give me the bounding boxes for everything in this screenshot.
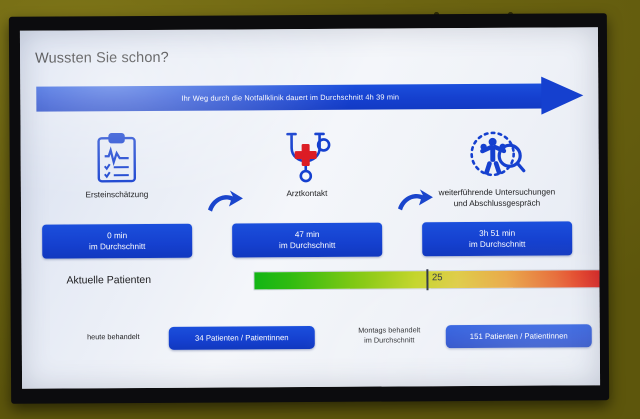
footer-label-montags: Montags behandelt im Durchschnitt <box>342 325 437 346</box>
step-label-line2: und Abschlussgespräch <box>409 197 585 209</box>
current-patients-label: Aktuelle Patienten <box>66 274 151 287</box>
step-column-arztkontakt: Arztkontakt <box>219 128 395 199</box>
step-value-ersteinschaetzung: 0 min im Durchschnitt <box>42 224 192 259</box>
step-value: 0 min <box>107 230 127 241</box>
banner-arrowhead-icon <box>541 76 583 114</box>
step-value-arztkontakt: 47 min im Durchschnitt <box>232 223 382 258</box>
gauge-value: 25 <box>432 272 443 283</box>
banner-text: Ihr Weg durch die Notfallklinik dauert i… <box>36 84 544 112</box>
step-label: Arztkontakt <box>219 187 395 199</box>
slide-canvas: Wussten Sie schon? Ihr Weg durch die Not… <box>20 27 600 389</box>
screen-area: Wussten Sie schon? Ihr Weg durch die Not… <box>20 27 600 389</box>
footer-label-heute: heute behandelt <box>66 332 161 343</box>
footer-label-montags-line1: Montags behandelt <box>342 325 437 336</box>
step-value-sub: im Durchschnitt <box>279 240 335 251</box>
gauge-marker <box>426 269 428 290</box>
footer-value-heute: 34 Patienten / Patientinnen <box>169 326 315 350</box>
step-label: Ersteinschätzung <box>29 189 205 201</box>
footer-value-montags: 151 Patienten / Patientinnen <box>446 324 592 348</box>
step-column-untersuchungen: weiterführende Untersuchungen und Abschl… <box>409 127 585 209</box>
current-patients-gauge: 25 <box>254 270 600 289</box>
pathway-banner: Ihr Weg durch die Notfallklinik dauert i… <box>36 83 583 111</box>
page-title: Wussten Sie schon? <box>35 50 169 67</box>
step-value-sub: im Durchschnitt <box>469 239 525 250</box>
stethoscope-red-cross-icon <box>219 128 395 185</box>
clipboard-vitals-icon <box>29 130 205 187</box>
step-value: 3h 51 min <box>479 228 515 239</box>
footer-label-montags-line2: im Durchschnitt <box>342 335 437 346</box>
step-value: 47 min <box>295 229 320 240</box>
step-value-untersuchungen: 3h 51 min im Durchschnitt <box>422 221 572 256</box>
step-value-sub: im Durchschnitt <box>89 241 145 252</box>
step-column-ersteinschaetzung: Ersteinschätzung <box>29 130 205 201</box>
patient-magnifier-icon <box>409 127 585 184</box>
information-display: Wussten Sie schon? Ihr Weg durch die Not… <box>9 13 609 404</box>
